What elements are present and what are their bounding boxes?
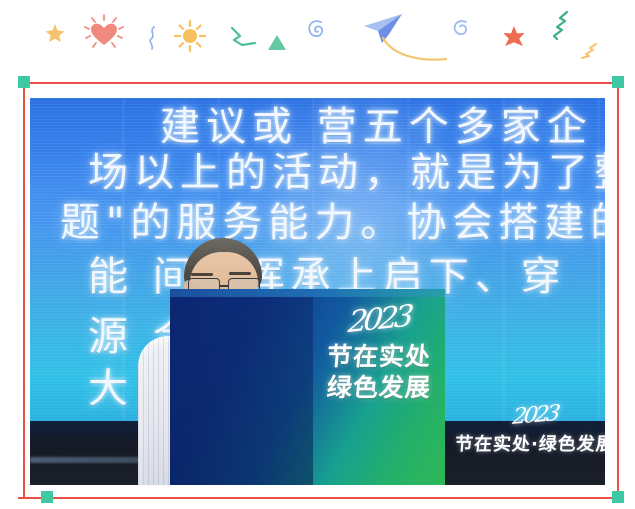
frame-line-top bbox=[24, 82, 618, 84]
corner-marker-bottom-right bbox=[612, 491, 624, 503]
heart-burst-icon bbox=[84, 14, 124, 54]
decoration-band bbox=[0, 0, 635, 76]
squiggle-yellow-icon bbox=[576, 42, 598, 60]
podium-sign-line-2: 绿色发展 bbox=[323, 372, 436, 403]
podium-sign-line-1: 节在实处 bbox=[323, 341, 436, 372]
frame-line-bottom bbox=[18, 497, 612, 499]
corner-marker-bottom-left bbox=[41, 491, 53, 503]
podium-shadow bbox=[170, 297, 313, 485]
corner-marker-top-left bbox=[18, 76, 30, 88]
corner-marker-top-right bbox=[612, 76, 624, 88]
spiral-blue-icon bbox=[305, 18, 329, 44]
triangle-green-icon bbox=[267, 34, 287, 51]
squiggle-green-icon bbox=[545, 10, 569, 42]
glasses-bridge bbox=[219, 285, 229, 287]
frame-line-right bbox=[617, 82, 619, 498]
star-red-icon bbox=[502, 25, 526, 49]
sun-icon bbox=[172, 18, 208, 54]
squiggle-blue-icon bbox=[147, 26, 159, 50]
wall-banner-text: 节在实处·绿色发展 bbox=[444, 430, 605, 456]
event-photo: 建议或 营五个多家企 场以上的活动，就是为了整合 题"的服务能力。协会搭建的节 … bbox=[30, 98, 605, 485]
wall-banner: 2023 节在实处·绿色发展 bbox=[445, 405, 605, 477]
plane-trail-icon bbox=[382, 36, 448, 64]
speaker-eyebrow-left bbox=[191, 273, 213, 276]
speaker-eyebrow-right bbox=[229, 272, 251, 275]
podium-sign-mark: 2023 bbox=[321, 299, 436, 340]
spiral-blue-2-icon bbox=[451, 18, 473, 42]
podium-sign: 2023 节在实处 绿色发展 bbox=[324, 305, 434, 480]
podium: 2023 节在实处 绿色发展 bbox=[170, 289, 445, 485]
frame-line-left bbox=[23, 82, 25, 498]
page-root: 建议或 营五个多家企 场以上的活动，就是为了整合 题"的服务能力。协会搭建的节 … bbox=[0, 0, 635, 509]
star-yellow-icon bbox=[44, 22, 66, 44]
zigzag-green-icon bbox=[230, 26, 258, 48]
